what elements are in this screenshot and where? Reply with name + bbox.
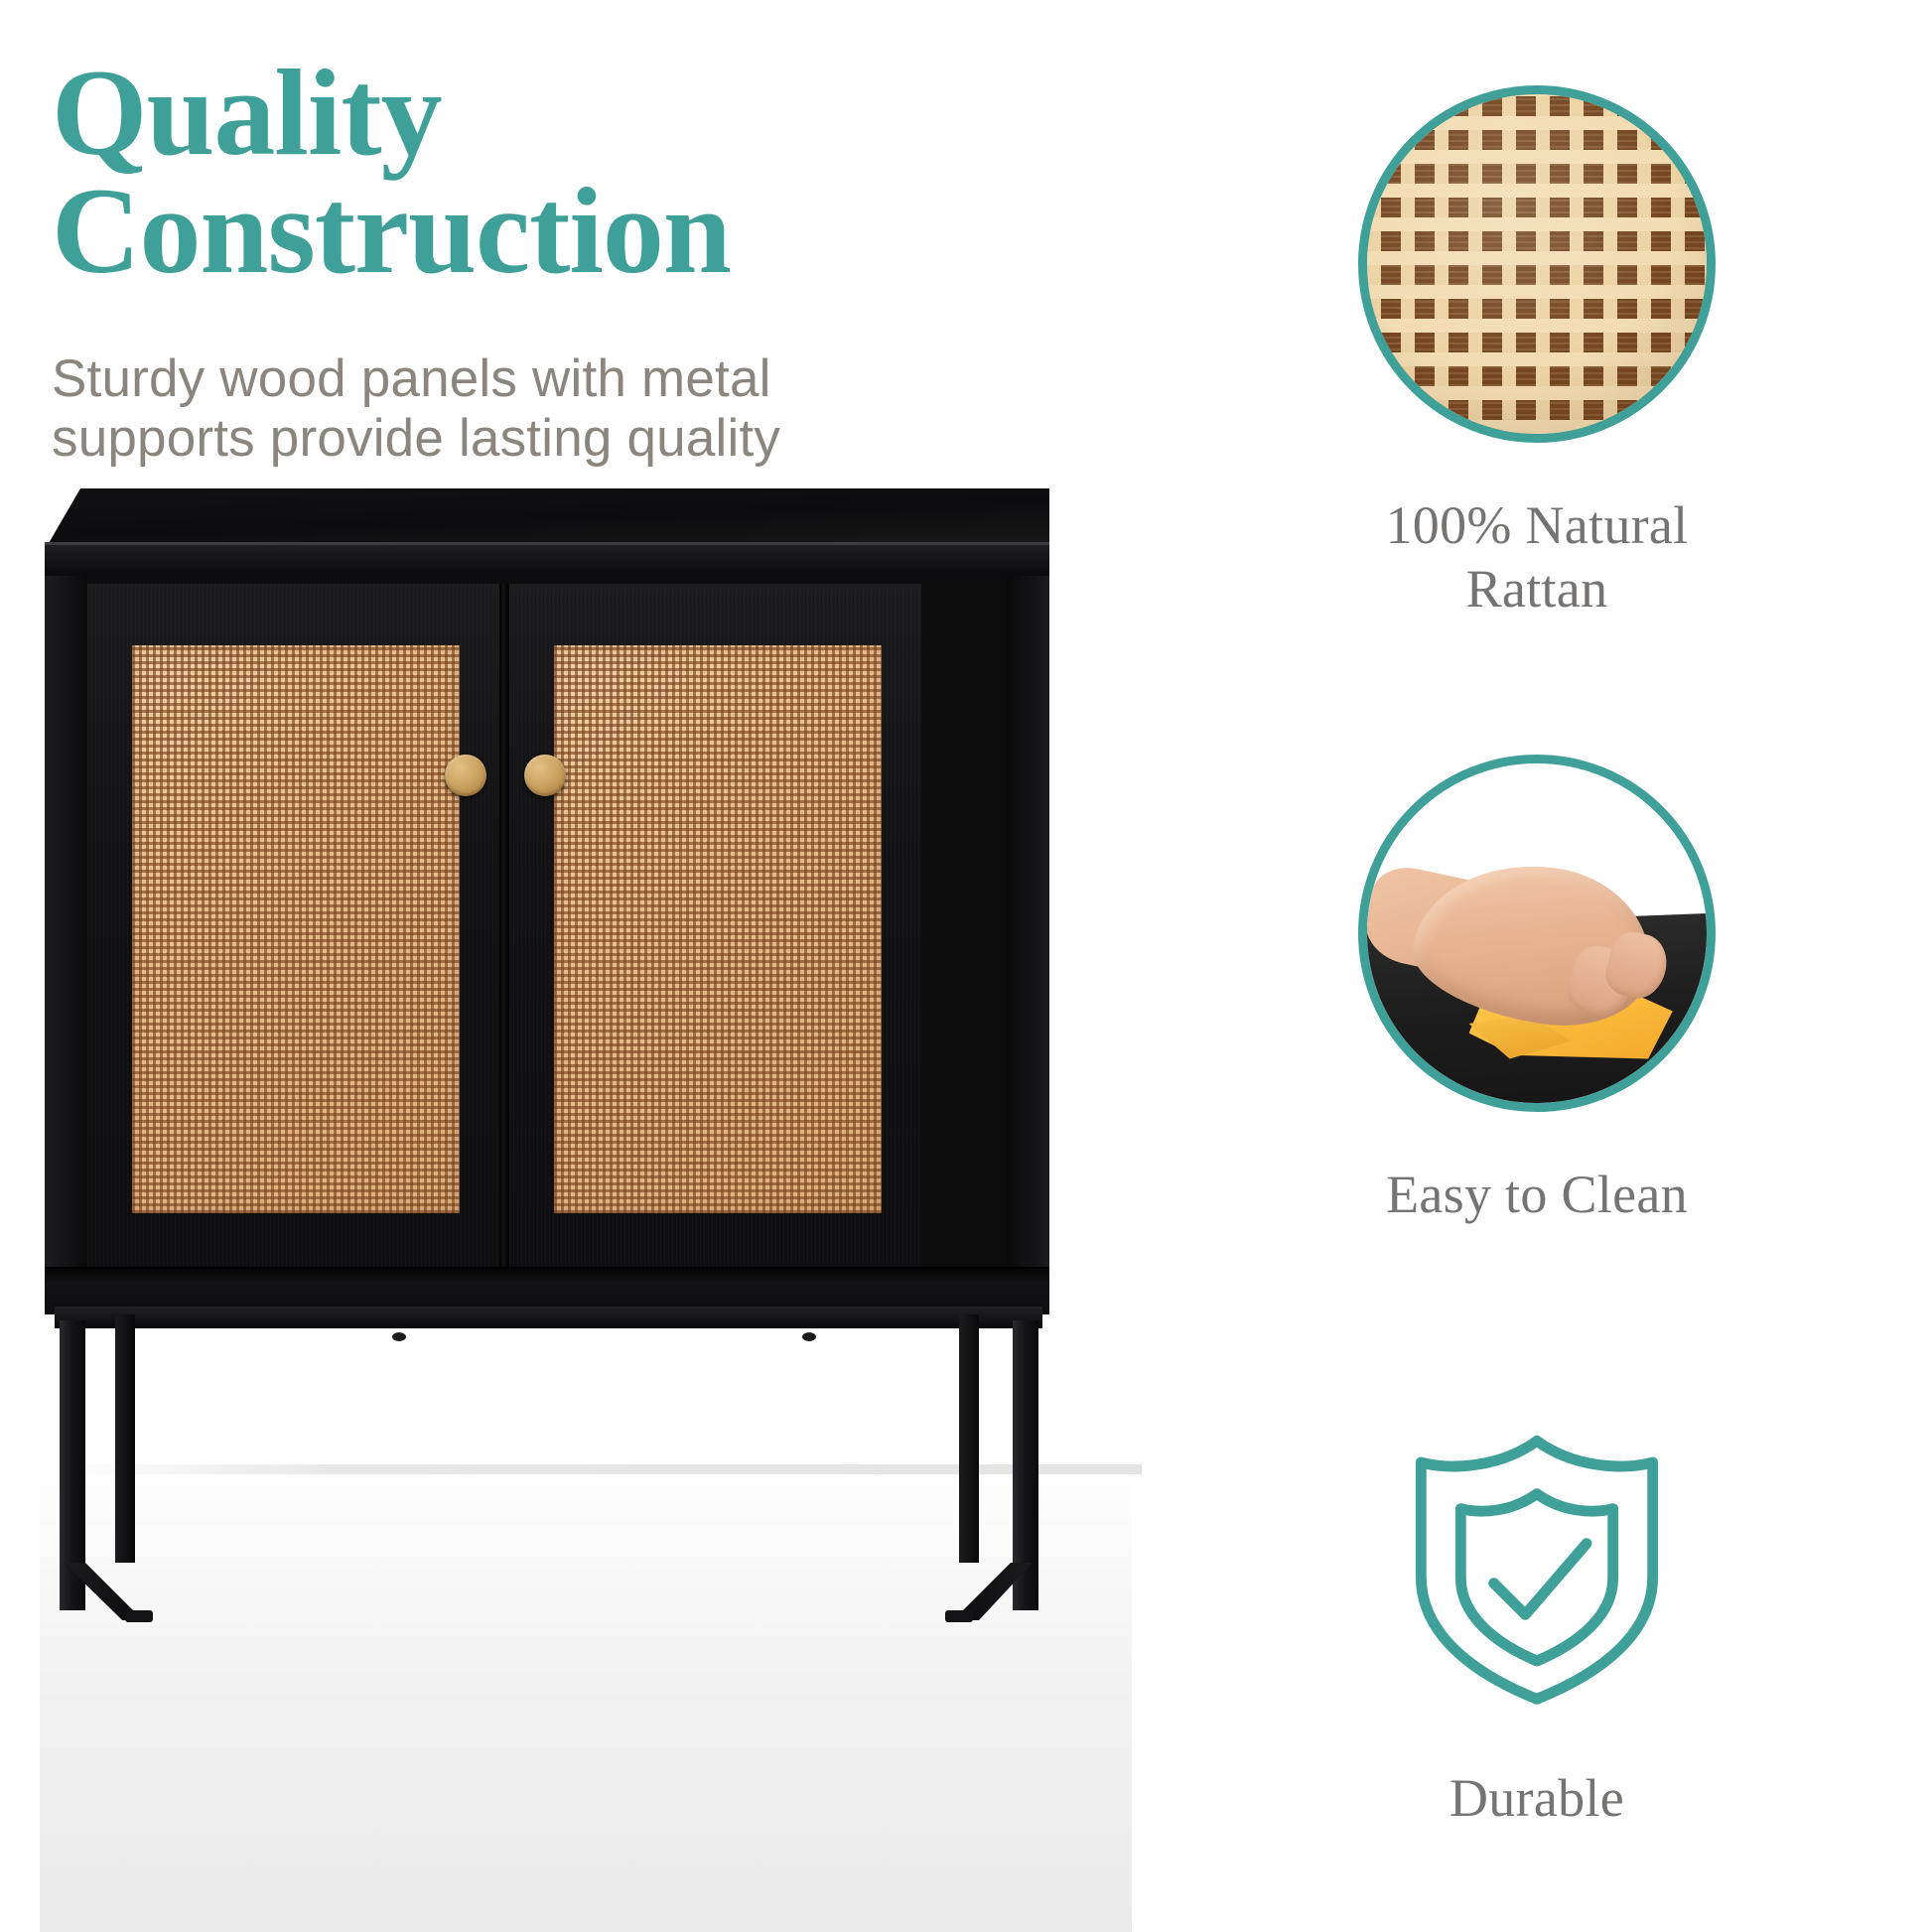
cabinet-door-seam: [499, 584, 509, 1267]
product-image-cabinet: [0, 467, 1142, 1932]
feature-list: 100% Natural Rattan Easy to Clean: [1142, 0, 1932, 1932]
rattan-weave-photo-icon: [1358, 85, 1716, 443]
feature-label-easy-to-clean: Easy to Clean: [1142, 1164, 1932, 1227]
foot-pad-left: [125, 1610, 153, 1622]
foot-pad-right: [945, 1610, 973, 1622]
metal-leg-back-right: [959, 1314, 979, 1563]
cleaning-photo-background: [1367, 763, 1707, 1103]
feature-natural-rattan: 100% Natural Rattan: [1142, 85, 1932, 621]
door-knob-right[interactable]: [524, 755, 566, 796]
shield-check-icon: [1358, 1418, 1716, 1716]
cabinet-top-surface: [45, 488, 1049, 550]
cabinet-left-side-panel: [45, 576, 86, 1271]
feature-label-line-1: Easy to Clean: [1142, 1164, 1932, 1227]
page-subtitle: Sturdy wood panels with metal supports p…: [52, 349, 925, 470]
feature-durable: Durable: [1142, 1418, 1932, 1831]
rattan-panel-right: [554, 645, 882, 1213]
page-title-line-2: Construction: [52, 172, 945, 290]
page-subtitle-line-2: supports provide lasting quality: [52, 409, 925, 469]
cabinet-top-front-edge: [45, 542, 1049, 576]
frame-screw-right: [802, 1332, 816, 1341]
door-knob-left[interactable]: [445, 755, 486, 796]
metal-frame-top-rail: [55, 1307, 1042, 1328]
feature-label-line-1: 100% Natural: [1142, 494, 1932, 558]
page-title: Quality Construction: [52, 54, 945, 290]
feature-label-durable: Durable: [1142, 1767, 1932, 1831]
feature-label-line-1: Durable: [1142, 1767, 1932, 1831]
cabinet-door-left[interactable]: [87, 584, 499, 1267]
feature-label-line-2: Rattan: [1142, 558, 1932, 621]
metal-leg-back-left: [115, 1314, 135, 1563]
rattan-panel-left: [132, 645, 460, 1213]
cabinet-top-highlight: [45, 542, 1049, 545]
cabinet-right-side-panel: [1008, 576, 1049, 1271]
frame-screw-left: [392, 1332, 406, 1341]
rattan-weave-shading: [1367, 94, 1707, 434]
feature-label-natural-rattan: 100% Natural Rattan: [1142, 494, 1932, 621]
page-title-line-1: Quality: [52, 54, 945, 172]
feature-easy-to-clean: Easy to Clean: [1142, 755, 1932, 1227]
floor-edge-line: [60, 1464, 1142, 1474]
page-subtitle-line-1: Sturdy wood panels with metal: [52, 349, 925, 409]
hand-wiping-cloth-photo-icon: [1358, 755, 1716, 1112]
cabinet-door-right[interactable]: [509, 584, 921, 1267]
